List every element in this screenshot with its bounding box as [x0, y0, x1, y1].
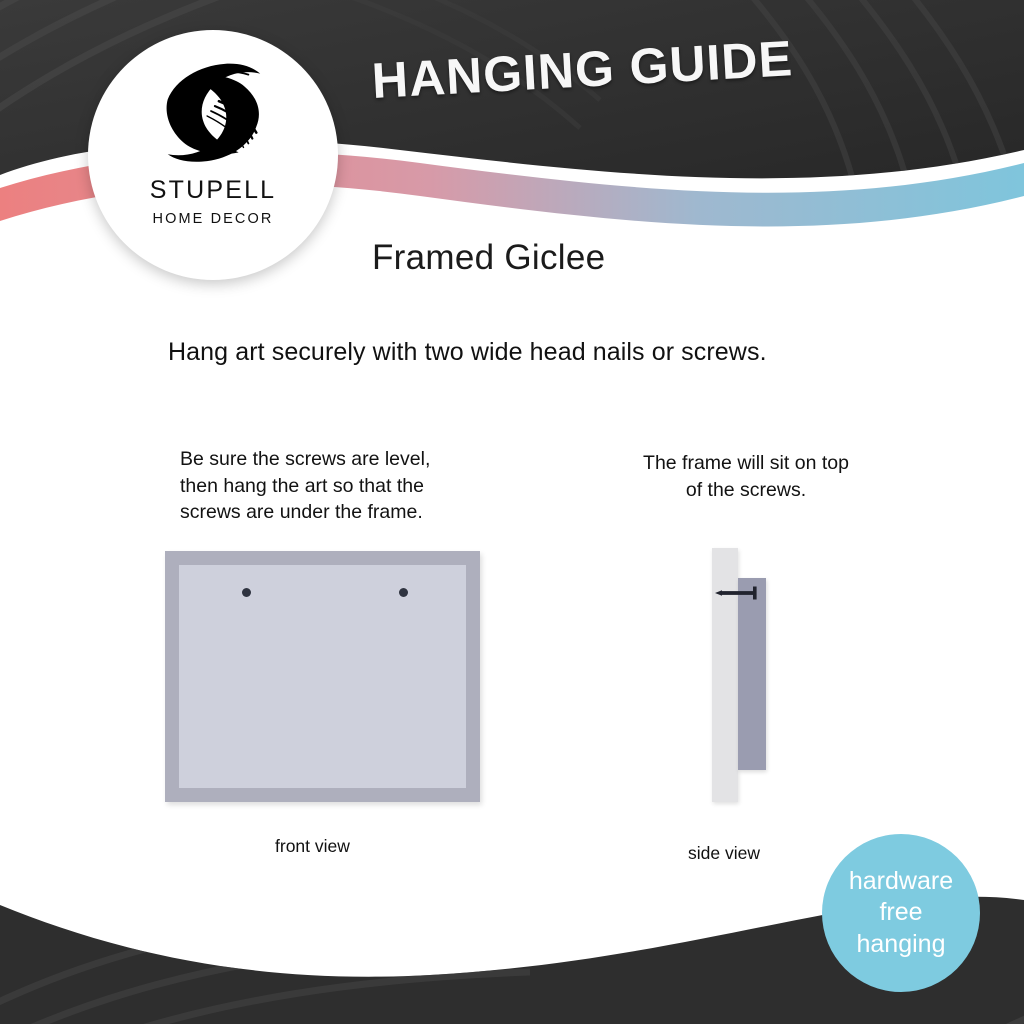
side-view-label: side view — [688, 843, 760, 864]
lead-instruction: Hang art securely with two wide head nai… — [168, 338, 767, 367]
product-type-heading: Framed Giclee — [372, 238, 605, 278]
hanging-guide-page: HANGING GUIDE STUPELL HOME DECOR Framed … — [0, 0, 1024, 1024]
brand-tagline: HOME DECOR — [153, 212, 274, 227]
screw-dot-icon — [242, 588, 251, 597]
badge-line: hanging — [857, 929, 946, 960]
caption-line: Be sure the screws are level, — [180, 446, 480, 473]
badge-line: hardware — [849, 866, 953, 897]
frame-mat-area — [179, 565, 466, 788]
hardware-free-hanging-badge: hardware free hanging — [822, 834, 980, 992]
caption-line: then hang the art so that the — [180, 473, 480, 500]
brand-name: STUPELL — [150, 178, 277, 203]
front-view-label: front view — [275, 836, 350, 857]
caption-line: screws are under the frame. — [180, 499, 480, 526]
front-view-diagram — [165, 551, 480, 802]
side-view-diagram — [705, 545, 795, 807]
front-view-caption: Be sure the screws are level, then hang … — [180, 446, 480, 526]
frame-bar — [738, 578, 766, 770]
side-view-caption: The frame will sit on top of the screws. — [600, 450, 892, 503]
caption-line: The frame will sit on top — [600, 450, 892, 477]
page-title: HANGING GUIDE — [370, 29, 794, 110]
nail-side-icon — [713, 585, 763, 601]
brand-logo-badge: STUPELL HOME DECOR — [88, 30, 338, 280]
stupell-swoosh-logo-icon — [154, 54, 272, 172]
badge-line: free — [879, 897, 922, 928]
caption-line: of the screws. — [600, 477, 892, 504]
screw-dot-icon — [399, 588, 408, 597]
